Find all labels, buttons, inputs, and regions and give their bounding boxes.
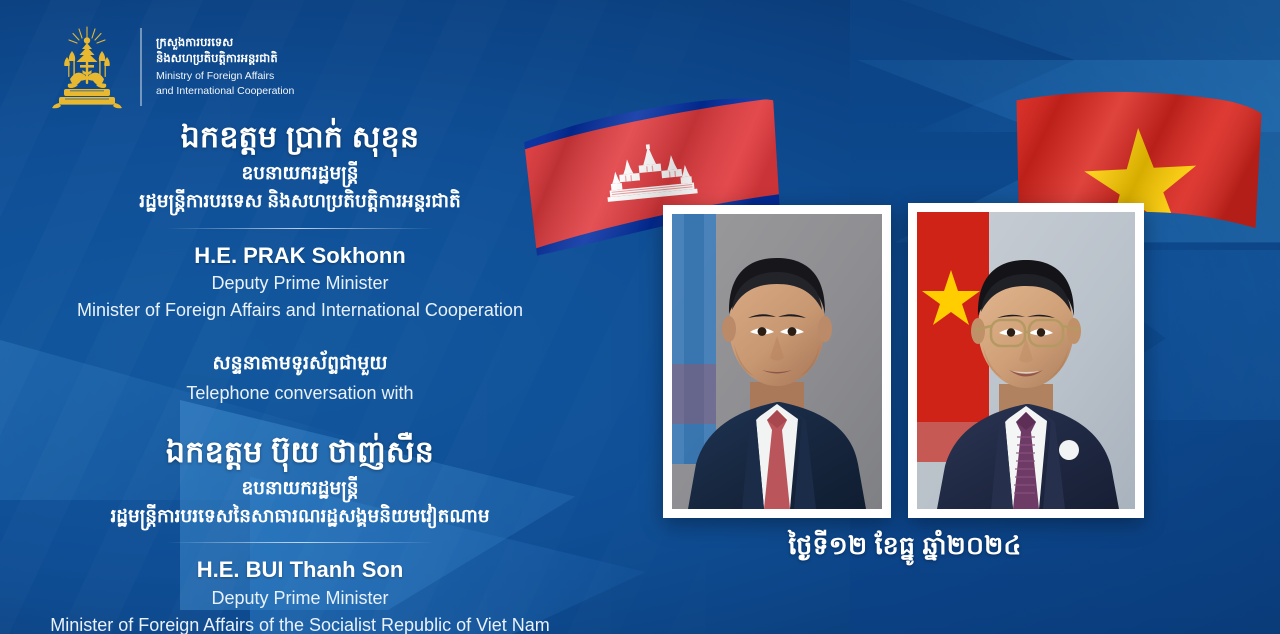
ministry-name-en-line1: Ministry of Foreign Affairs [156, 69, 294, 83]
ministry-name-kh-line1: ក្រសួងការបរទេស [156, 36, 294, 51]
person1-kh-role2: រដ្ឋមន្ត្រីការបរទេស និងសហប្រតិបត្តិការអន… [0, 187, 600, 215]
person2-en-role2: Minister of Foreign Affairs of the Socia… [0, 612, 600, 634]
cambodia-royal-emblem-icon [48, 24, 126, 110]
main-text-column: ឯកឧត្តម ប្រាក់ សុខុន ឧបនាយករដ្ឋមន្ត្រី រ… [0, 118, 600, 634]
ministry-name-text: ក្រសួងការបរទេស និងសហប្រតិបត្តិការអន្តរជា… [156, 36, 294, 97]
person2-divider-rule [166, 542, 434, 543]
person2-portrait-photo [917, 212, 1135, 509]
person1-divider-rule [166, 228, 434, 229]
person2-en-role1: Deputy Prime Minister [0, 585, 600, 612]
connector-kh-text: សន្ទនាតាមទូរស័ព្ទជាមួយ [0, 350, 600, 379]
person2-en-name: H.E. BUI Thanh Son [0, 555, 600, 585]
person2-kh-role1: ឧបនាយករដ្ឋមន្ត្រី [0, 474, 600, 502]
person1-block: ឯកឧត្តម ប្រាក់ សុខុន ឧបនាយករដ្ឋមន្ត្រី រ… [0, 118, 600, 323]
person1-portrait-frame [663, 205, 891, 518]
person2-block: ឯកឧត្តម ប៊ុយ ថាញ់សឺន ឧបនាយករដ្ឋមន្ត្រី រ… [0, 433, 600, 634]
person1-en-role2: Minister of Foreign Affairs and Internat… [0, 297, 600, 324]
person2-kh-name: ឯកឧត្តម ប៊ុយ ថាញ់សឺន [0, 433, 600, 472]
person1-kh-name: ឯកឧត្តម ប្រាក់ សុខុន [0, 118, 600, 157]
ministry-logo-lockup: ក្រសួងការបរទេស និងសហប្រតិបត្តិការអន្តរជា… [48, 24, 294, 110]
date-text: ថ្ងៃទី១២ ខែធ្នូ ឆ្នាំ២០២៤ [760, 531, 1050, 567]
announcement-graphic: ក្រសួងការបរទេស និងសហប្រតិបត្តិការអន្តរជា… [0, 0, 1280, 634]
person1-en-name: H.E. PRAK Sokhonn [0, 241, 600, 271]
person1-portrait-photo [672, 214, 882, 509]
portrait-photo-bui-thanh-son [917, 212, 1135, 509]
logo-vertical-divider [140, 28, 142, 106]
connector-en-text: Telephone conversation with [0, 380, 600, 407]
portrait-photo-prak-sokhonn [672, 214, 882, 509]
person2-portrait-frame [908, 203, 1144, 518]
person2-kh-role2: រដ្ឋមន្ត្រីការបរទេសនៃសាធារណរដ្ឋសង្គមនិយម… [0, 502, 600, 530]
connector-block: សន្ទនាតាមទូរស័ព្ទជាមួយ Telephone convers… [0, 350, 600, 407]
ministry-name-en-line2: and International Cooperation [156, 84, 294, 98]
person1-en-role1: Deputy Prime Minister [0, 270, 600, 297]
person1-kh-role1: ឧបនាយករដ្ឋមន្ត្រី [0, 159, 600, 187]
ministry-name-kh-line2: និងសហប្រតិបត្តិការអន្តរជាតិ [156, 52, 294, 67]
